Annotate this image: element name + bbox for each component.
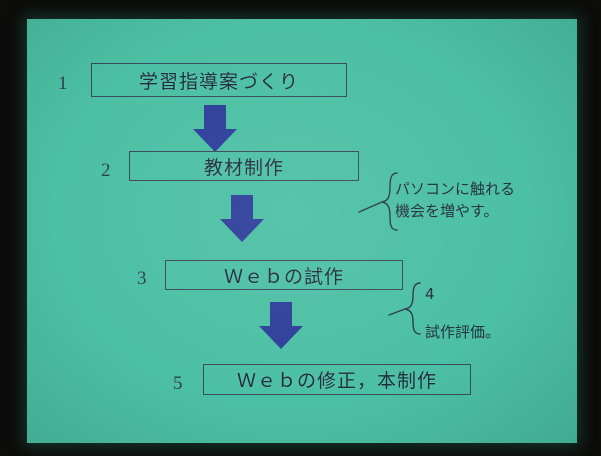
annotation-1-line-1: パソコンに触れる [395, 179, 515, 201]
step-box-5[interactable]: Ｗｅｂの修正，本制作 [203, 364, 471, 395]
step-box-3[interactable]: Ｗｅｂの試作 [165, 260, 403, 290]
annotation-1: パソコンに触れる 機会を増やす。 [395, 179, 515, 223]
arrow-stem [231, 195, 253, 221]
arrow-stem [270, 302, 292, 328]
presentation-slide: 1 学習指導案づくり 2 教材制作 [27, 19, 577, 443]
annotation-2-number: 4 [425, 284, 435, 306]
brace-connector-1 [357, 171, 399, 233]
step-number-1: 1 [58, 74, 68, 93]
annotation-2-number-label: 4 [425, 284, 435, 306]
down-arrow-icon-1 [193, 105, 237, 151]
flowchart: 1 学習指導案づくり 2 教材制作 [27, 19, 577, 443]
down-arrow-icon-3 [259, 302, 303, 348]
arrow-head [259, 326, 303, 349]
step-box-2[interactable]: 教材制作 [129, 151, 359, 181]
brace-connector-2 [387, 281, 425, 337]
arrow-head [193, 129, 237, 152]
step-number-3: 3 [137, 269, 147, 288]
down-arrow-icon-2 [220, 195, 264, 241]
arrow-stem [204, 105, 226, 131]
step-number-2: 2 [101, 161, 111, 180]
projected-screen: 1 学習指導案づくり 2 教材制作 [0, 0, 601, 456]
annotation-1-line-2: 機会を増やす。 [395, 201, 515, 223]
annotation-2: 試作評価。 [425, 322, 500, 344]
arrow-head [220, 219, 264, 242]
annotation-2-line-1: 試作評価。 [425, 322, 500, 344]
step-number-5: 5 [173, 374, 183, 393]
step-box-1[interactable]: 学習指導案づくり [91, 63, 347, 97]
